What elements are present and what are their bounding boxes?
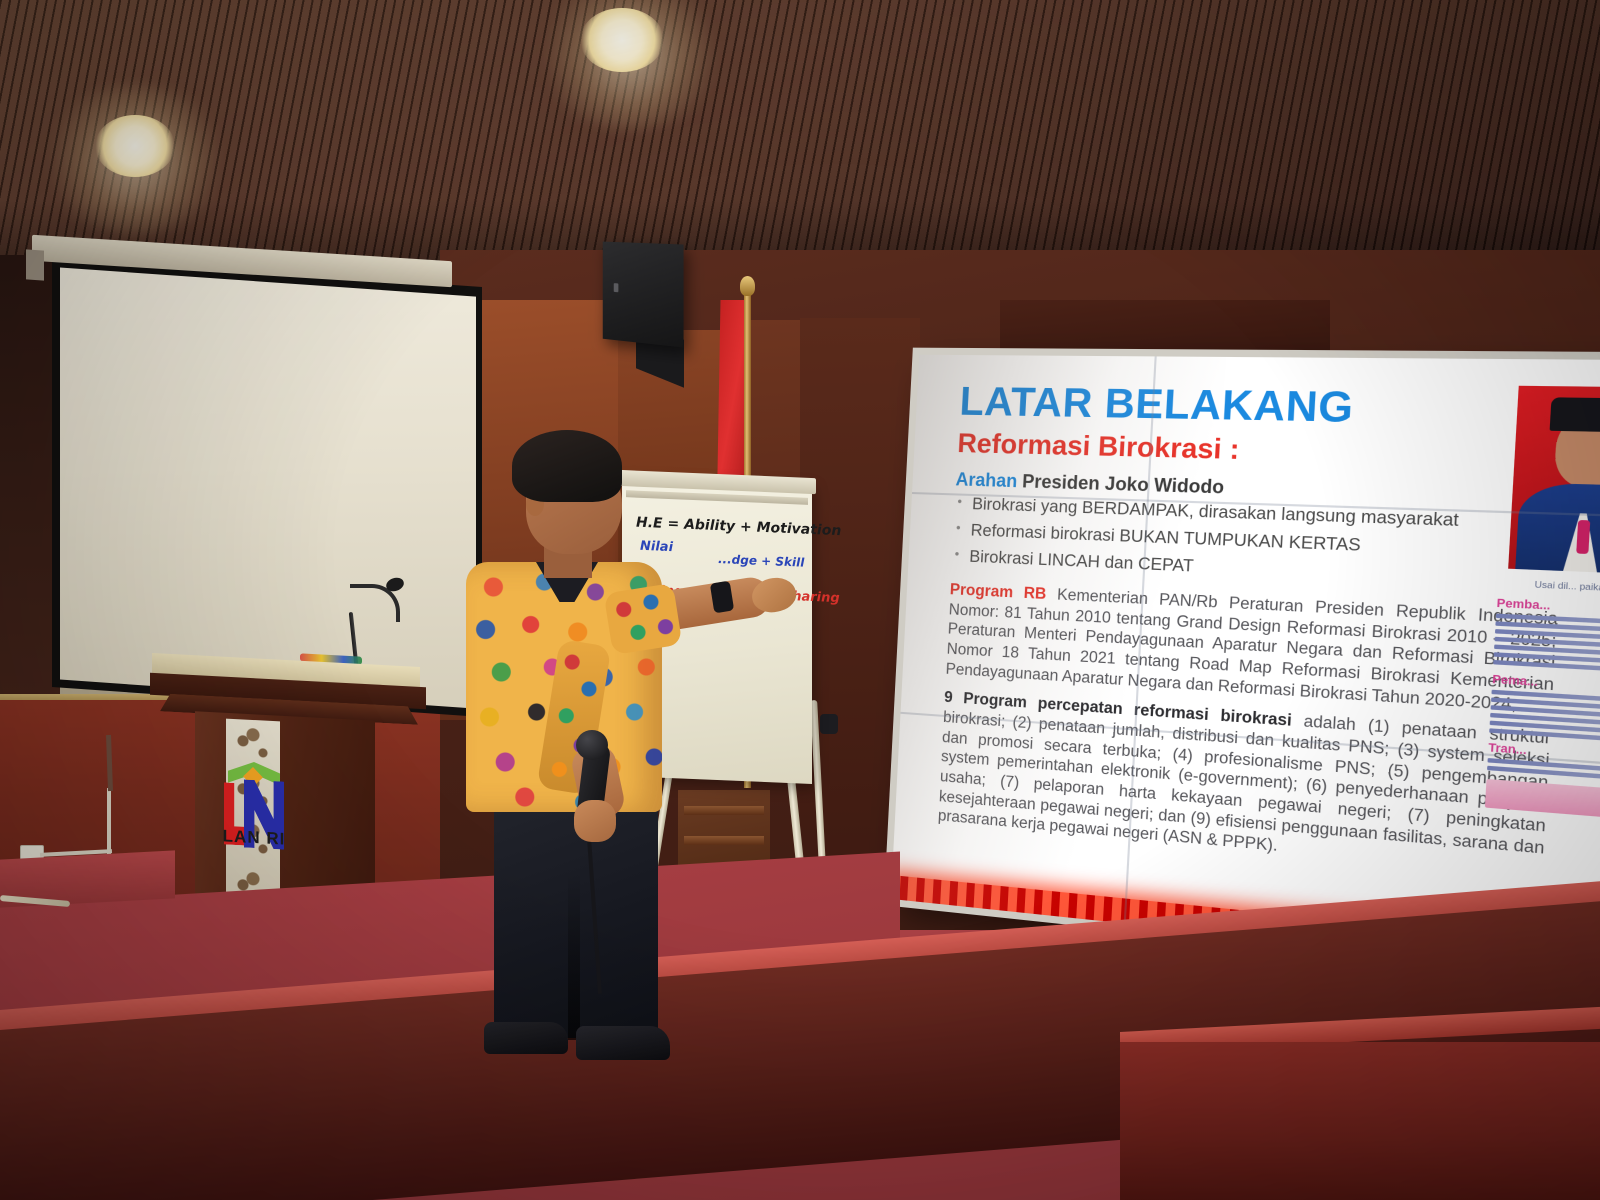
power-cord-segment-2 xyxy=(107,788,111,856)
portrait-tie xyxy=(1576,520,1590,554)
wall-speaker-icon xyxy=(603,242,684,348)
slide-right-text-block-1 xyxy=(1493,614,1600,675)
seminar-hall-scene: LATAR BELAKANG Reformasi Birokrasi : Ara… xyxy=(0,0,1600,1200)
slide-lead-highlight: Arahan xyxy=(955,469,1018,491)
slide-lead-rest: Presiden Joko Widodo xyxy=(1017,471,1225,498)
presenter-shoe-right xyxy=(576,1026,670,1060)
microphone-head xyxy=(576,730,608,760)
ceiling-light-right xyxy=(580,8,664,72)
flagpole-finial xyxy=(740,276,755,296)
lan-ri-logo-icon xyxy=(224,760,284,883)
easel-knob xyxy=(820,714,838,734)
slide-paragraph-2: 9 Program percepatan reformasi birokrasi… xyxy=(937,688,1551,881)
presenter-hair xyxy=(512,430,622,502)
video-wall-display[interactable]: LATAR BELAKANG Reformasi Birokrasi : Ara… xyxy=(891,355,1600,979)
slide-right-caption: Usai dil... paikan ... Ma xyxy=(1502,577,1600,597)
portrait-songkok-icon xyxy=(1550,397,1600,432)
projection-screen-surface xyxy=(60,268,476,709)
presenter-figure xyxy=(440,430,760,1070)
presentation-slide: LATAR BELAKANG Reformasi Birokrasi : Ara… xyxy=(891,355,1600,979)
slide-paragraph-2-body: adalah (1) penataan struktur birokrasi; … xyxy=(937,709,1551,858)
presenter-shoe-left xyxy=(484,1022,568,1054)
lan-ri-logo-text: LAN RI xyxy=(216,826,292,850)
left-dark-wall xyxy=(0,255,60,735)
projection-screen-roller-cap xyxy=(26,249,44,280)
presenter-leg-gap xyxy=(568,870,580,1040)
stage-block-front xyxy=(1120,1042,1600,1200)
slide-right-text-block-2 xyxy=(1489,690,1600,745)
slide-paragraph-1-head: Program RB xyxy=(949,581,1046,603)
projection-screen xyxy=(52,257,482,717)
president-portrait xyxy=(1508,386,1600,575)
presenter-sleeve-right xyxy=(604,583,683,655)
ceiling-light-left xyxy=(95,115,175,177)
presenter-mic-hand xyxy=(574,800,616,842)
